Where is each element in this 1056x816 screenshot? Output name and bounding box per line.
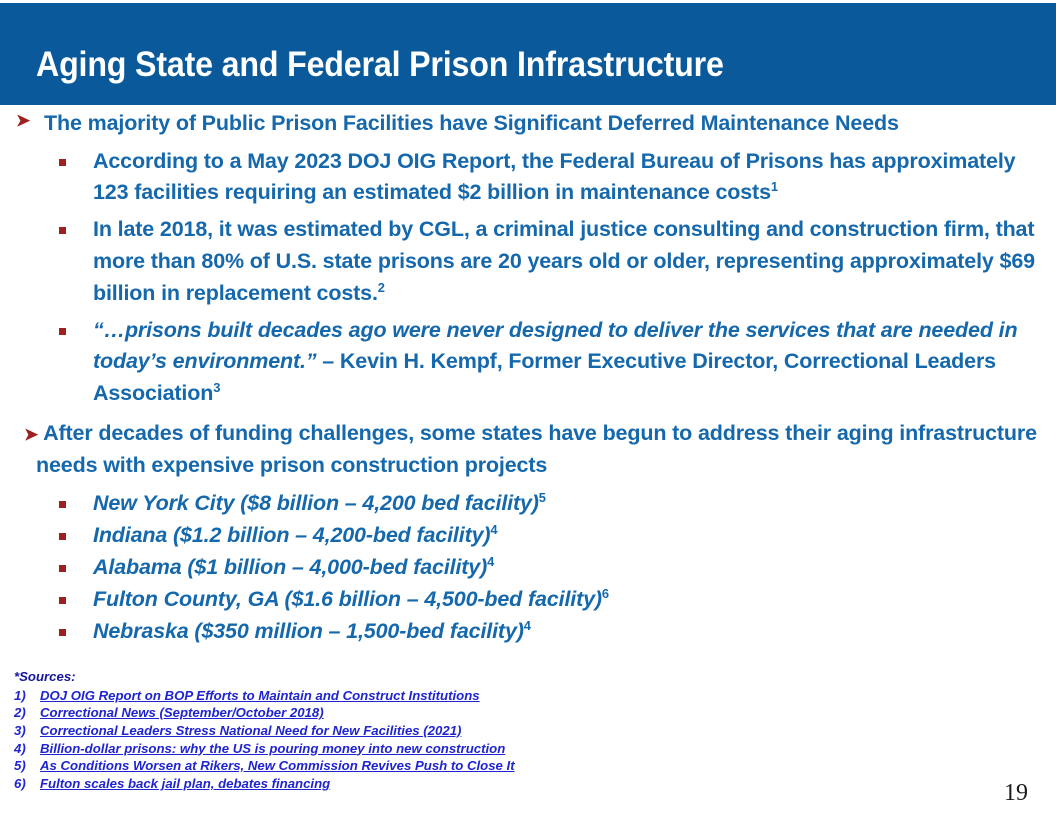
square-bullet-icon bbox=[59, 629, 66, 636]
square-bullet-icon bbox=[59, 328, 66, 335]
source-number: 3) bbox=[14, 722, 40, 740]
footnote-ref: 2 bbox=[378, 280, 385, 295]
source-link[interactable]: Fulton scales back jail plan, debates fi… bbox=[40, 775, 330, 793]
sub-bullet-nebraska: Nebraska ($350 million – 1,500-bed facil… bbox=[0, 616, 1048, 648]
sub-bullet-text: In late 2018, it was estimated by CGL, a… bbox=[93, 217, 1035, 305]
source-number: 5) bbox=[14, 757, 40, 775]
bullet-level1-text: The majority of Public Prison Facilities… bbox=[44, 111, 899, 135]
source-item[interactable]: 1) DOJ OIG Report on BOP Efforts to Main… bbox=[14, 687, 714, 705]
square-bullet-icon bbox=[59, 501, 66, 508]
source-link[interactable]: DOJ OIG Report on BOP Efforts to Maintai… bbox=[40, 687, 480, 705]
page-title: Aging State and Federal Prison Infrastru… bbox=[36, 47, 724, 82]
source-number: 2) bbox=[14, 704, 40, 722]
source-item[interactable]: 4) Billion-dollar prisons: why the US is… bbox=[14, 740, 714, 758]
sub-bullet-text: Nebraska ($350 million – 1,500-bed facil… bbox=[93, 619, 524, 643]
footnote-ref: 3 bbox=[213, 380, 220, 395]
footnote-ref: 4 bbox=[487, 554, 494, 569]
source-number: 1) bbox=[14, 687, 40, 705]
arrow-bullet-icon: ➤ bbox=[16, 109, 30, 134]
page-number: 19 bbox=[1004, 780, 1028, 807]
source-link[interactable]: As Conditions Worsen at Rikers, New Comm… bbox=[40, 757, 515, 775]
sub-bullet-cgl-estimate: In late 2018, it was estimated by CGL, a… bbox=[0, 214, 1048, 309]
sub-bullet-kempf-quote: “…prisons built decades ago were never d… bbox=[0, 315, 1048, 410]
footnote-ref: 6 bbox=[602, 586, 609, 601]
footnote-ref: 4 bbox=[524, 617, 531, 632]
sources-footnotes: *Sources: 1) DOJ OIG Report on BOP Effor… bbox=[14, 668, 714, 792]
source-link[interactable]: Billion-dollar prisons: why the US is po… bbox=[40, 740, 505, 758]
arrow-bullet-icon: ➤ bbox=[24, 425, 38, 444]
sub-bullet-text: New York City ($8 billion – 4,200 bed fa… bbox=[93, 491, 539, 515]
sub-bullet-fulton-county: Fulton County, GA ($1.6 billion – 4,500-… bbox=[0, 584, 1048, 616]
source-item[interactable]: 2) Correctional News (September/October … bbox=[14, 704, 714, 722]
bullet-level1-maintenance-needs: ➤The majority of Public Prison Facilitie… bbox=[12, 108, 1046, 140]
source-item[interactable]: 6) Fulton scales back jail plan, debates… bbox=[14, 775, 714, 793]
footnote-ref: 4 bbox=[490, 522, 497, 537]
source-item[interactable]: 5) As Conditions Worsen at Rikers, New C… bbox=[14, 757, 714, 775]
square-bullet-icon bbox=[59, 159, 66, 166]
sub-bullet-text: Indiana ($1.2 billion – 4,200-bed facili… bbox=[93, 523, 490, 547]
footnote-ref: 1 bbox=[771, 179, 778, 194]
sub-bullet-text: Fulton County, GA ($1.6 billion – 4,500-… bbox=[93, 587, 602, 611]
sources-heading: *Sources: bbox=[14, 668, 714, 686]
square-bullet-icon bbox=[59, 565, 66, 572]
source-link[interactable]: Correctional Leaders Stress National Nee… bbox=[40, 722, 461, 740]
source-item[interactable]: 3) Correctional Leaders Stress National … bbox=[14, 722, 714, 740]
sub-bullet-text: Alabama ($1 billion – 4,000-bed facility… bbox=[93, 555, 487, 579]
source-link[interactable]: Correctional News (September/October 201… bbox=[40, 704, 324, 722]
bullet-level1-text: After decades of funding challenges, som… bbox=[36, 421, 1037, 477]
square-bullet-icon bbox=[59, 597, 66, 604]
source-number: 6) bbox=[14, 775, 40, 793]
sub-bullet-doj-oig-report: According to a May 2023 DOJ OIG Report, … bbox=[0, 146, 1048, 210]
sub-bullet-alabama: Alabama ($1 billion – 4,000-bed facility… bbox=[0, 552, 1048, 584]
footnote-ref: 5 bbox=[539, 490, 546, 505]
sub-bullet-new-york-city: New York City ($8 billion – 4,200 bed fa… bbox=[0, 488, 1048, 520]
bullet-level1-state-funding: ➤ After decades of funding challenges, s… bbox=[12, 418, 1046, 481]
sub-bullet-indiana: Indiana ($1.2 billion – 4,200-bed facili… bbox=[0, 520, 1048, 552]
sub-bullet-text: According to a May 2023 DOJ OIG Report, … bbox=[93, 149, 1015, 205]
square-bullet-icon bbox=[59, 227, 66, 234]
slide-body: ➤The majority of Public Prison Facilitie… bbox=[0, 108, 1056, 647]
square-bullet-icon bbox=[59, 533, 66, 540]
source-number: 4) bbox=[14, 740, 40, 758]
title-banner: Aging State and Federal Prison Infrastru… bbox=[0, 3, 1056, 105]
